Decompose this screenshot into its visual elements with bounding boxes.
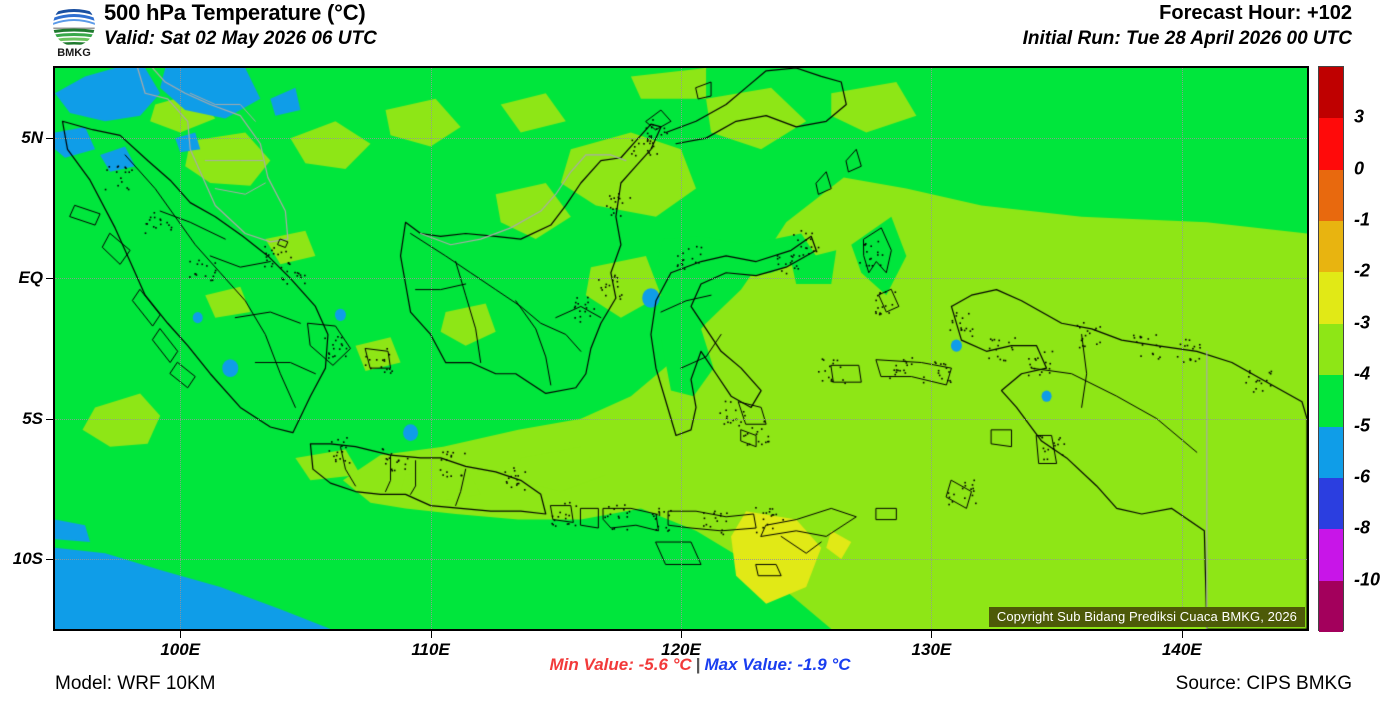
copyright-watermark: Copyright Sub Bidang Prediksi Cuaca BMKG… (989, 607, 1305, 627)
colorbar-band (1319, 529, 1343, 580)
min-max-values: Min Value: -5.6 °C|Max Value: -1.9 °C (0, 655, 1400, 675)
colorbar-band (1319, 221, 1343, 272)
bmkg-logo-label: BMKG (57, 47, 91, 58)
colorbar-band (1319, 375, 1343, 426)
colorbar-band (1319, 170, 1343, 221)
y-axis-tick (46, 138, 53, 139)
x-axis-tick (681, 631, 682, 638)
min-max-separator: | (692, 655, 705, 674)
colorbar-tick-label: -3 (1354, 312, 1370, 333)
colorbar-legend: 30-1-2-3-4-5-6-8-10 (1318, 66, 1400, 631)
y-axis-label: 5S (22, 409, 43, 429)
header-right-block: Forecast Hour: +102 Initial Run: Tue 28 … (1023, 0, 1352, 51)
colorbar-band (1319, 272, 1343, 323)
valid-time-label: Valid: Sat 02 May 2026 06 UTC (104, 27, 377, 51)
colorbar-tick-label: -8 (1354, 518, 1370, 539)
y-axis-tick (46, 559, 53, 560)
colorbar-tick-label: -2 (1354, 261, 1370, 282)
colorbar-tick-label: -1 (1354, 210, 1370, 231)
header: BMKG 500 hPa Temperature (°C) Valid: Sat… (0, 0, 1400, 62)
colorbar-band (1319, 581, 1343, 632)
colorbar-tick-label: -6 (1354, 466, 1370, 487)
y-axis-label: EQ (18, 268, 43, 288)
map-plot-area: Copyright Sub Bidang Prediksi Cuaca BMKG… (53, 66, 1309, 631)
forecast-hour-label: Forecast Hour: +102 (1023, 0, 1352, 26)
colorbar-gradient (1318, 66, 1344, 631)
x-axis-tick (431, 631, 432, 638)
colorbar-tick-label: 3 (1354, 107, 1364, 128)
y-axis-label: 5N (21, 128, 43, 148)
weather-map-page: BMKG 500 hPa Temperature (°C) Valid: Sat… (0, 0, 1400, 709)
temperature-field-canvas (55, 68, 1307, 629)
colorbar-band (1319, 478, 1343, 529)
colorbar-tick-label: -10 (1354, 569, 1380, 590)
page-title: 500 hPa Temperature (°C) (104, 0, 377, 26)
x-axis-tick (180, 631, 181, 638)
bmkg-logo-icon: BMKG (46, 2, 102, 58)
colorbar-band (1319, 118, 1343, 169)
max-value-label: Max Value: -1.9 °C (704, 655, 850, 674)
map-frame: Copyright Sub Bidang Prediksi Cuaca BMKG… (53, 66, 1309, 631)
x-axis-tick (1182, 631, 1183, 638)
y-axis-label: 10S (13, 549, 43, 569)
model-label: Model: WRF 10KM (55, 673, 215, 695)
colorbar-tick-label: -4 (1354, 364, 1370, 385)
colorbar-band (1319, 324, 1343, 375)
source-label: Source: CIPS BMKG (1176, 673, 1352, 695)
colorbar-band (1319, 427, 1343, 478)
title-block: 500 hPa Temperature (°C) Valid: Sat 02 M… (104, 0, 377, 51)
colorbar-tick-label: -5 (1354, 415, 1370, 436)
initial-run-label: Initial Run: Tue 28 April 2026 00 UTC (1023, 27, 1352, 51)
colorbar-tick-label: 0 (1354, 158, 1364, 179)
colorbar-band (1319, 67, 1343, 118)
y-axis-tick (46, 419, 53, 420)
y-axis-tick (46, 278, 53, 279)
x-axis-tick (931, 631, 932, 638)
min-value-label: Min Value: -5.6 °C (550, 655, 692, 674)
